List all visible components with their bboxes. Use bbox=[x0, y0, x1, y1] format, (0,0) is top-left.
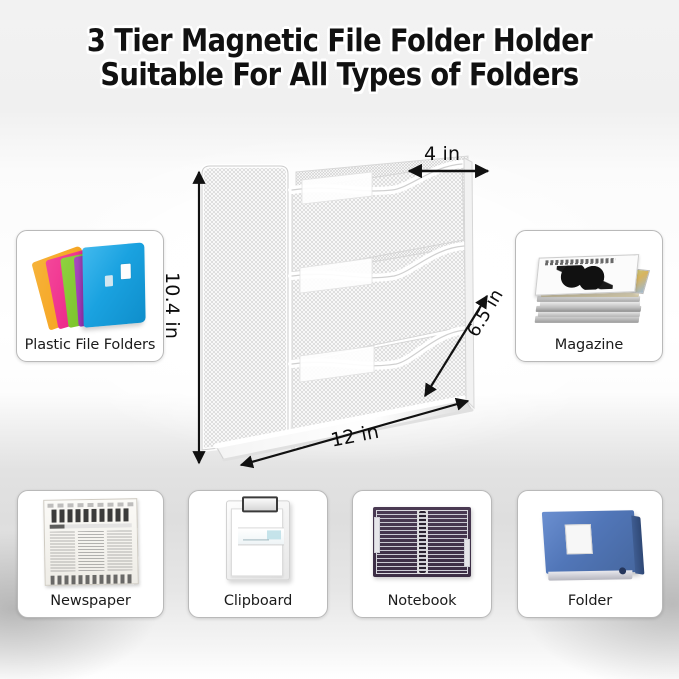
feature-card-plastic-file-folders: Plastic File Folders bbox=[16, 230, 164, 362]
dimension-label-width-top: 4 in bbox=[424, 143, 460, 165]
card-label-folder: Folder bbox=[518, 593, 662, 617]
card-label-notebook: Notebook bbox=[353, 593, 491, 617]
title-line-2: Suitable For All Types of Folders bbox=[41, 58, 639, 92]
magazine-stack-icon bbox=[516, 231, 662, 337]
plastic-file-folders-icon bbox=[17, 231, 163, 337]
feature-card-folder: Folder bbox=[517, 490, 663, 618]
blue-folder-icon bbox=[518, 491, 662, 593]
newspaper-icon bbox=[18, 491, 163, 593]
infographic-canvas: 3 Tier Magnetic File Folder Holder Suita… bbox=[0, 0, 679, 679]
feature-card-magazine: Magazine bbox=[515, 230, 663, 362]
notebook-icon bbox=[353, 491, 491, 593]
page-title: 3 Tier Magnetic File Folder Holder Suita… bbox=[0, 24, 679, 92]
product-image-file-holder bbox=[196, 150, 486, 470]
card-label-clipboard: Clipboard bbox=[189, 593, 327, 617]
card-label-plastic-file-folders: Plastic File Folders bbox=[17, 337, 163, 361]
feature-card-newspaper: Newspaper bbox=[17, 490, 164, 618]
clipboard-icon bbox=[189, 491, 327, 593]
card-label-newspaper: Newspaper bbox=[18, 593, 163, 617]
title-line-1: 3 Tier Magnetic File Folder Holder bbox=[41, 24, 639, 58]
feature-card-clipboard: Clipboard bbox=[188, 490, 328, 618]
card-label-magazine: Magazine bbox=[516, 337, 662, 361]
feature-card-notebook: Notebook bbox=[352, 490, 492, 618]
dimension-label-height: 10.4 in bbox=[161, 272, 183, 339]
folder-blue-icon bbox=[82, 242, 145, 327]
